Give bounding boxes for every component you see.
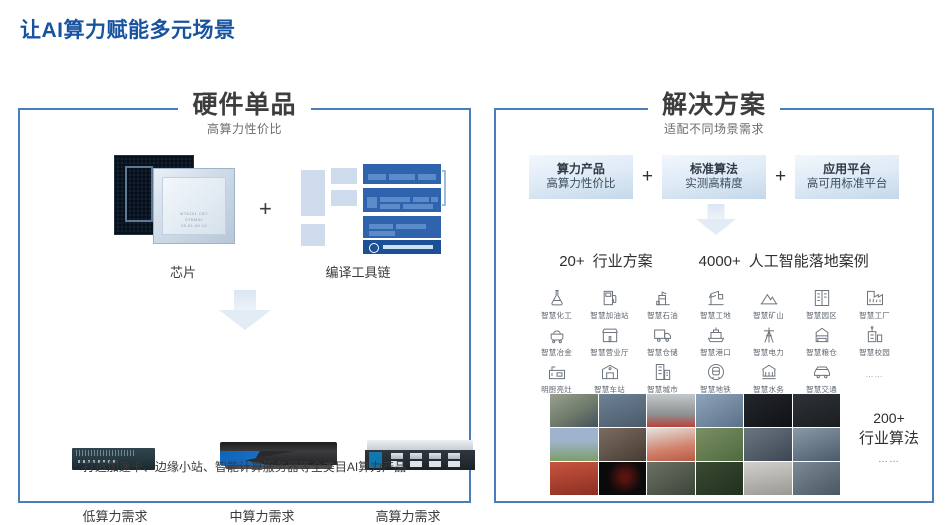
icon-item-warehouse[interactable]: 智慧仓储 bbox=[636, 325, 689, 358]
icon-label: 智慧校园 bbox=[859, 347, 890, 358]
collage-tile bbox=[696, 428, 744, 461]
icon-label: 智慧矿山 bbox=[753, 310, 784, 321]
hardware-panel: 硬件单品 高算力性价比 MTA151 CBT STBM62 25-51-60 1… bbox=[18, 108, 471, 503]
station-icon bbox=[600, 362, 620, 382]
down-arrow-icon bbox=[217, 290, 273, 332]
chip-print-line-3: 25-51-60 10 bbox=[154, 223, 234, 229]
stat-solution-count: 20+ bbox=[559, 253, 584, 270]
icon-item-mine[interactable]: 智慧矿山 bbox=[742, 288, 795, 321]
campus-icon bbox=[865, 325, 885, 345]
icon-label: 智慧冶金 bbox=[541, 347, 572, 358]
pill-compute-product[interactable]: 算力产品 高算力性价比 bbox=[529, 155, 633, 199]
collage-tile bbox=[696, 462, 744, 495]
caption-low-compute: 低算力需求 bbox=[65, 506, 165, 525]
collage-tile bbox=[550, 428, 598, 461]
chip-package-icon: MTA151 CBT STBM62 25-51-60 10 bbox=[153, 168, 235, 244]
stat-case-label: 人工智能落地案例 bbox=[749, 250, 869, 271]
ellipsis-icon: …… bbox=[866, 370, 884, 379]
icon-label: 智慧工厂 bbox=[859, 310, 890, 321]
hardware-heading-subtitle: 高算力性价比 bbox=[192, 120, 296, 137]
collage-tile bbox=[647, 394, 695, 427]
icon-item-construction[interactable]: 智慧工地 bbox=[689, 288, 742, 321]
icon-item-power[interactable]: 智慧电力 bbox=[742, 325, 795, 358]
capability-pill-row: 算力产品 高算力性价比 + 标准算法 实测高精度 + 应用平台 高可用标准平台 bbox=[496, 154, 932, 200]
icon-item-port[interactable]: 智慧港口 bbox=[689, 325, 742, 358]
pill-title: 应用平台 bbox=[823, 162, 871, 177]
car-icon bbox=[812, 362, 832, 382]
page-title: 让AI算力赋能多元场景 bbox=[20, 14, 236, 44]
toolchain-box-app bbox=[331, 190, 357, 206]
caption-high-compute: 高算力需求 bbox=[358, 506, 458, 525]
kitchen-icon bbox=[547, 362, 567, 382]
caption-toolchain: 编译工具链 bbox=[298, 262, 418, 281]
down-arrow-icon bbox=[694, 204, 738, 236]
flask-icon bbox=[547, 288, 567, 308]
collage-tile bbox=[647, 462, 695, 495]
hardware-panel-heading: 硬件单品 高算力性价比 bbox=[20, 86, 469, 131]
caption-chip: 芯片 bbox=[138, 262, 228, 281]
toolchain-panel-driver bbox=[363, 216, 441, 238]
metro-icon bbox=[706, 362, 726, 382]
collage-tile bbox=[744, 428, 792, 461]
solutions-heading-title: 解决方案 bbox=[662, 92, 766, 118]
chip-image: MTA151 CBT STBM62 25-51-60 10 bbox=[115, 154, 245, 250]
icon-label: 智慧工地 bbox=[700, 310, 731, 321]
collage-tile bbox=[793, 428, 841, 461]
heading-rule-left bbox=[562, 108, 648, 110]
icon-item-service-hall[interactable]: 智慧营业厅 bbox=[583, 325, 636, 358]
heading-rule-left bbox=[92, 108, 178, 110]
ship-icon bbox=[706, 325, 726, 345]
collage-tile bbox=[550, 394, 598, 427]
pill-application-platform[interactable]: 应用平台 高可用标准平台 bbox=[795, 155, 899, 199]
icon-label: 智慧电力 bbox=[753, 347, 784, 358]
office-building-icon bbox=[812, 288, 832, 308]
hardware-footnote: 打造加速卡、边缘小站、智能计算服务器等全类目AI算力产品 bbox=[20, 458, 469, 475]
icon-item-more: …… bbox=[848, 362, 901, 395]
city-icon bbox=[653, 362, 673, 382]
plus-icon: + bbox=[775, 166, 786, 188]
collage-tile bbox=[793, 462, 841, 495]
slide-root: 让AI算力赋能多元场景 硬件单品 高算力性价比 MTA151 CBT STBM6… bbox=[0, 0, 950, 520]
heading-rule-right bbox=[780, 108, 866, 110]
ellipsis-icon: …… bbox=[846, 454, 932, 465]
algorithm-label: 行业算法 bbox=[846, 427, 932, 448]
icon-item-gas-station[interactable]: 智慧加油站 bbox=[583, 288, 636, 321]
crane-icon bbox=[706, 288, 726, 308]
caption-mid-compute: 中算力需求 bbox=[212, 506, 312, 525]
pill-subtitle: 实测高精度 bbox=[685, 177, 743, 191]
solutions-panel: 解决方案 适配不同场景需求 算力产品 高算力性价比 + 标准算法 实测高精度 +… bbox=[494, 108, 934, 503]
stats-row: 20+ 行业方案 4000+ 人工智能落地案例 bbox=[496, 250, 932, 271]
icon-item-park[interactable]: 智慧园区 bbox=[795, 288, 848, 321]
heading-text: 解决方案 适配不同场景需求 bbox=[648, 92, 780, 137]
collage-tile bbox=[647, 428, 695, 461]
plus-icon: + bbox=[259, 196, 272, 222]
pill-subtitle: 高算力性价比 bbox=[546, 177, 615, 191]
brand-logo-icon bbox=[369, 243, 379, 253]
pill-standard-algorithm[interactable]: 标准算法 实测高精度 bbox=[662, 155, 766, 199]
storefront-icon bbox=[600, 325, 620, 345]
icon-label: 智慧仓储 bbox=[647, 347, 678, 358]
hardware-top-row: MTA151 CBT STBM62 25-51-60 10 + bbox=[20, 148, 469, 256]
heading-rule-right bbox=[311, 108, 397, 110]
collage-tile bbox=[744, 462, 792, 495]
icon-item-granary[interactable]: 智慧粮仓 bbox=[795, 325, 848, 358]
icon-item-city[interactable]: 智慧城市 bbox=[636, 362, 689, 395]
ladle-icon bbox=[547, 325, 567, 345]
icon-label: 智慧石油 bbox=[647, 310, 678, 321]
collage-tile bbox=[599, 462, 647, 495]
pill-title: 算力产品 bbox=[557, 162, 605, 177]
algorithm-count: 200+ bbox=[846, 410, 932, 426]
collage-tile bbox=[744, 394, 792, 427]
icon-row: 智慧冶金 智慧营业厅 智慧仓储 bbox=[530, 325, 902, 362]
toolchain-box-frontend bbox=[331, 168, 357, 184]
toolchain-box-hw bbox=[301, 224, 325, 246]
icon-item-chemical[interactable]: 智慧化工 bbox=[530, 288, 583, 321]
icon-label: 智慧化工 bbox=[541, 310, 572, 321]
toolchain-box-arch bbox=[301, 170, 325, 216]
icon-item-transport[interactable]: 智慧交通 bbox=[795, 362, 848, 395]
icon-item-kitchen[interactable]: 明厨亮灶 bbox=[530, 362, 583, 395]
collage-tile bbox=[599, 394, 647, 427]
icon-label: 智慧加油站 bbox=[590, 310, 629, 321]
solutions-panel-heading: 解决方案 适配不同场景需求 bbox=[496, 86, 932, 131]
icon-label: 智慧营业厅 bbox=[590, 347, 629, 358]
stat-case-count: 4000+ bbox=[699, 253, 741, 270]
factory-icon bbox=[865, 288, 885, 308]
fuel-pump-icon bbox=[600, 288, 620, 308]
toolchain-diagram-image bbox=[301, 156, 449, 250]
icon-item-petroleum[interactable]: 智慧石油 bbox=[636, 288, 689, 321]
icon-item-campus[interactable]: 智慧校园 bbox=[848, 325, 901, 358]
waterworks-icon bbox=[759, 362, 779, 382]
solutions-heading-subtitle: 适配不同场景需求 bbox=[662, 120, 766, 137]
icon-row: 智慧化工 智慧加油站 智慧石油 bbox=[530, 288, 902, 325]
collage-tile bbox=[550, 462, 598, 495]
collage-tile bbox=[599, 428, 647, 461]
pylon-icon bbox=[759, 325, 779, 345]
truck-icon bbox=[653, 325, 673, 345]
pill-subtitle: 高可用标准平台 bbox=[807, 177, 888, 191]
hardware-heading-title: 硬件单品 bbox=[192, 92, 296, 118]
stat-solution-label: 行业方案 bbox=[593, 250, 653, 271]
pill-title: 标准算法 bbox=[690, 162, 738, 177]
icon-item-waterworks[interactable]: 智慧水务 bbox=[742, 362, 795, 395]
oil-derrick-icon bbox=[653, 288, 673, 308]
collage-tile bbox=[696, 394, 744, 427]
collage-tile bbox=[793, 394, 841, 427]
toolchain-logo-bar bbox=[363, 240, 441, 254]
icon-label: 智慧园区 bbox=[806, 310, 837, 321]
icon-label: 智慧粮仓 bbox=[806, 347, 837, 358]
icon-item-metro[interactable]: 智慧地铁 bbox=[689, 362, 742, 395]
case-photo-collage bbox=[550, 394, 840, 495]
granary-icon bbox=[812, 325, 832, 345]
plus-icon: + bbox=[642, 166, 653, 188]
icon-item-station[interactable]: 智慧车站 bbox=[583, 362, 636, 395]
icon-item-factory[interactable]: 智慧工厂 bbox=[848, 288, 901, 321]
heading-text: 硬件单品 高算力性价比 bbox=[178, 92, 310, 137]
algorithm-count-note: 200+ 行业算法 …… bbox=[846, 410, 932, 465]
icon-item-metallurgy[interactable]: 智慧冶金 bbox=[530, 325, 583, 358]
industry-icon-grid: 智慧化工 智慧加油站 智慧石油 bbox=[530, 288, 902, 399]
mountain-icon bbox=[759, 288, 779, 308]
toolchain-panel-compiler bbox=[363, 164, 441, 184]
toolchain-panel-runtime bbox=[363, 188, 441, 212]
icon-label: 智慧港口 bbox=[700, 347, 731, 358]
